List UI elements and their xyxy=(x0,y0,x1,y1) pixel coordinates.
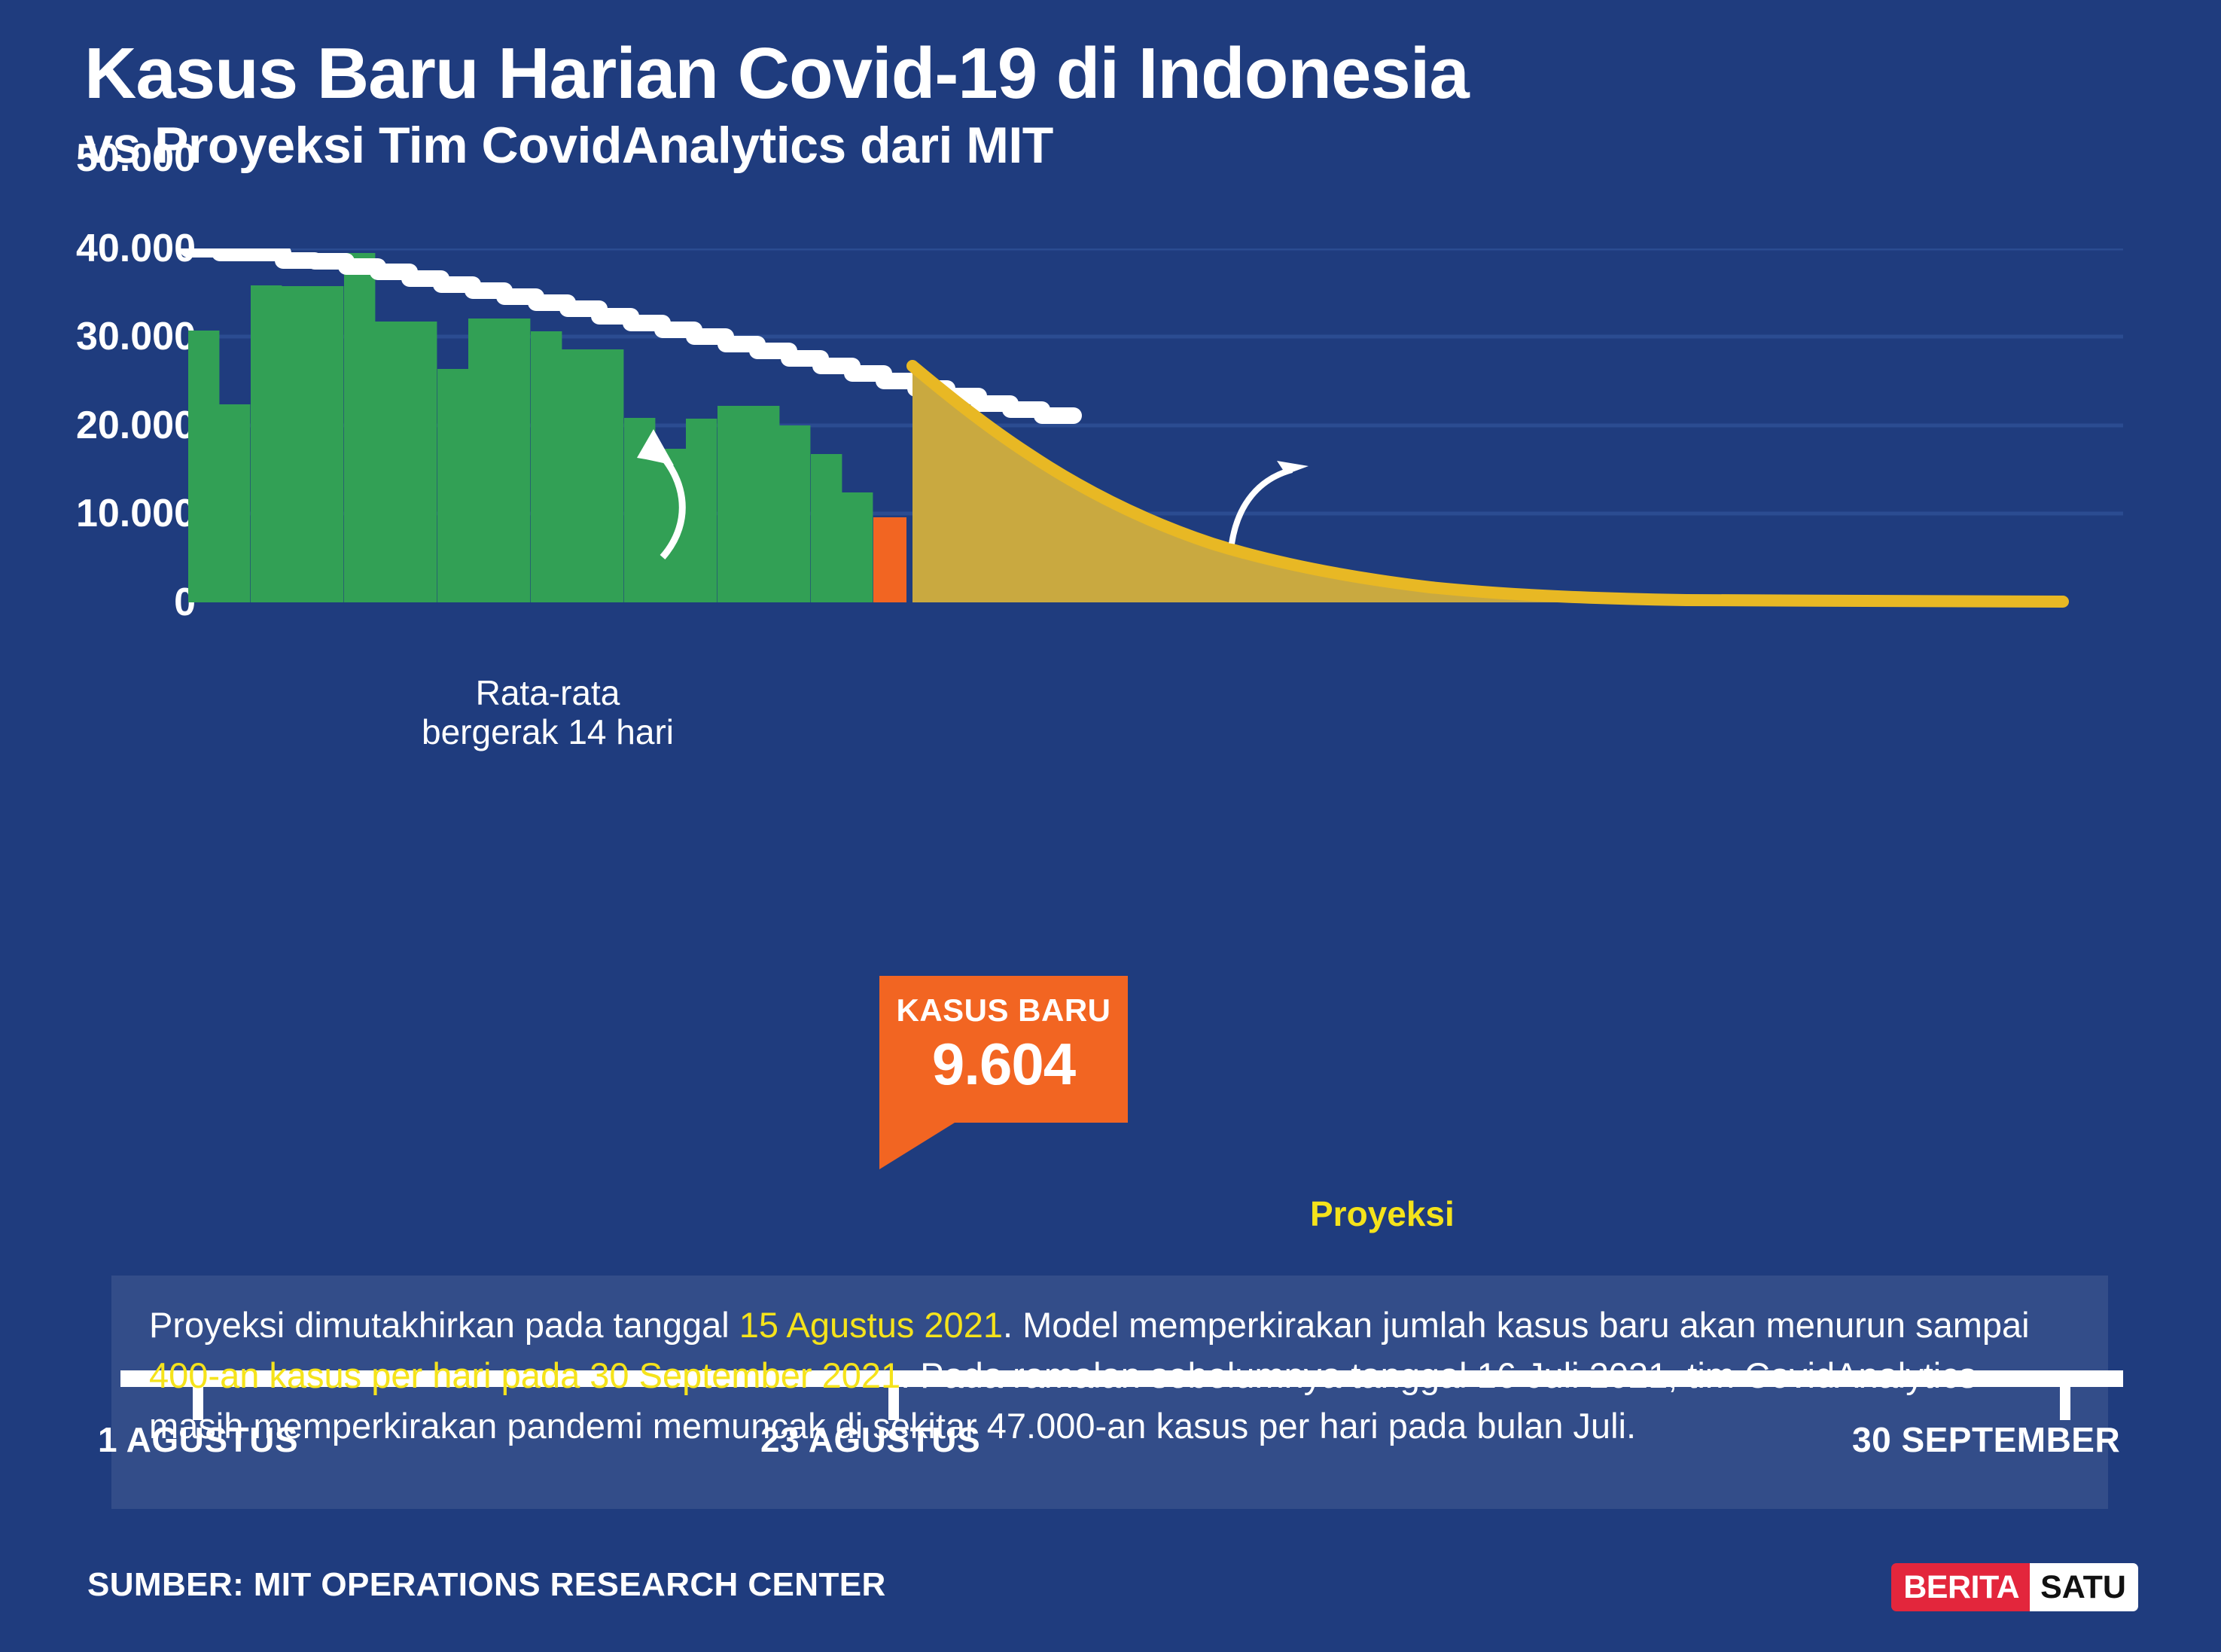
y-tick-50000: 50.000 xyxy=(76,136,196,181)
callout-label: KASUS BARU xyxy=(879,992,1128,1029)
annotation-moving-average: Rata-rata bergerak 14 hari xyxy=(422,674,674,751)
page-title: Kasus Baru Harian Covid-19 di Indonesia xyxy=(84,36,1469,111)
note-part2: . Model memperkirakan jumlah kasus baru … xyxy=(1003,1305,2030,1345)
source-text: SUMBER: MIT OPERATIONS RESEARCH CENTER xyxy=(87,1566,886,1604)
page-subtitle: vs Proyeksi Tim CovidAnalytics dari MIT xyxy=(84,117,1469,174)
logo-berita-text: BERITA xyxy=(1891,1563,2030,1611)
note-text: Proyeksi dimutakhirkan pada tanggal 15 A… xyxy=(149,1300,2078,1452)
note-part1: Proyeksi dimutakhirkan pada tanggal xyxy=(149,1305,739,1345)
note-box: Proyeksi dimutakhirkan pada tanggal 15 A… xyxy=(111,1276,2108,1509)
note-highlight-2: 400-an kasus per hari pada 30 September … xyxy=(149,1355,900,1395)
covid-cases-chart: 50.000 40.000 30.000 20.000 10.000 0 xyxy=(0,248,2221,1145)
bar-latest-case xyxy=(873,517,906,602)
projection-arrow xyxy=(1232,470,1292,544)
callout-value: 9.604 xyxy=(879,1030,1128,1099)
annotation-projection: Proyeksi xyxy=(1310,1193,1455,1234)
annotation-moving-average-line1: Rata-rata xyxy=(422,674,674,713)
new-cases-callout: KASUS BARU 9.604 xyxy=(879,976,1128,1123)
logo-satu-text: SATU xyxy=(2030,1563,2138,1611)
note-highlight-1: 15 Agustus 2021 xyxy=(739,1305,1003,1345)
beritasatu-logo: BERITA SATU xyxy=(1891,1563,2138,1611)
header-block: Kasus Baru Harian Covid-19 di Indonesia … xyxy=(84,36,1469,174)
annotation-moving-average-line2: bergerak 14 hari xyxy=(422,713,674,752)
callout-tail-icon xyxy=(879,1123,955,1169)
projection-arrowhead xyxy=(1274,461,1309,479)
